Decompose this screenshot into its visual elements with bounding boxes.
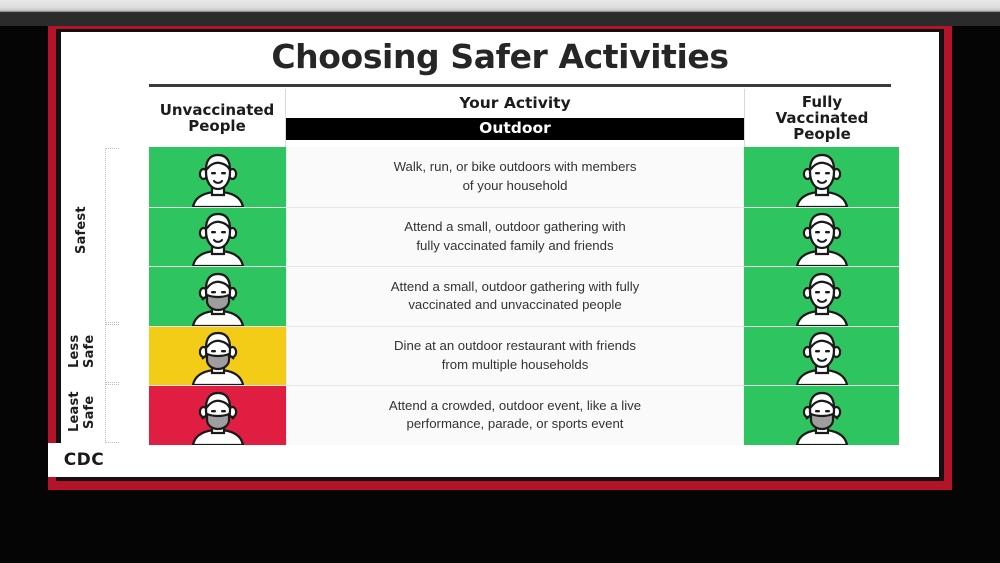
window-dark-strip <box>0 13 1000 26</box>
person-masked-icon <box>791 389 853 445</box>
vaccinated-risk-cell <box>744 147 899 207</box>
table-row: Attend a small, outdoor gathering with f… <box>149 266 899 326</box>
activity-line-2: from multiple households <box>442 357 589 372</box>
person-unmasked-icon <box>791 270 853 326</box>
vaccinated-risk-cell <box>744 386 899 445</box>
activity-description: Attend a small, outdoor gathering withfu… <box>286 208 744 267</box>
vaccinated-risk-cell <box>744 327 899 386</box>
activity-line-2: of your household <box>463 178 568 193</box>
activity-description: Dine at an outdoor restaurant with frien… <box>286 327 744 386</box>
header-unvaccinated-line2: People <box>188 117 246 135</box>
header-activity-label: Your Activity <box>459 95 570 118</box>
activity-line-2: vaccinated and unvaccinated people <box>408 297 621 312</box>
person-unmasked-icon <box>791 210 853 266</box>
person-masked-icon <box>187 329 249 385</box>
cdc-logo: CDC <box>48 443 120 477</box>
page-title: Choosing Safer Activities <box>61 37 939 76</box>
person-unmasked-icon <box>187 210 249 266</box>
title-divider <box>149 84 891 87</box>
table-row: Walk, run, or bike outdoors with members… <box>149 147 899 207</box>
risk-label-safest: Safest <box>75 150 95 310</box>
activity-description: Attend a small, outdoor gathering with f… <box>286 267 744 326</box>
unvaccinated-risk-cell <box>149 147 286 207</box>
header-outdoor-bar: Outdoor <box>286 118 744 140</box>
activity-description: Walk, run, or bike outdoors with members… <box>286 147 744 207</box>
person-unmasked-icon <box>791 329 853 385</box>
activity-line-1: Attend a crowded, outdoor event, like a … <box>389 398 641 413</box>
risk-label-less-safe-2: Safe <box>83 325 99 377</box>
activity-line-2: fully vaccinated family and friends <box>416 238 613 253</box>
table-row: Attend a small, outdoor gathering withfu… <box>149 207 899 267</box>
window-chrome-strip <box>0 0 1000 12</box>
person-masked-icon <box>187 270 249 326</box>
activity-line-1: Dine at an outdoor restaurant with frien… <box>394 338 636 353</box>
vaccinated-risk-cell <box>744 267 899 326</box>
risk-label-least-safe-2: Safe <box>83 384 99 440</box>
table-row: Attend a crowded, outdoor event, like a … <box>149 385 899 445</box>
header-vaccinated-line3: People <box>793 125 851 143</box>
unvaccinated-risk-cell <box>149 386 286 445</box>
table-row: Dine at an outdoor restaurant with frien… <box>149 326 899 386</box>
person-unmasked-icon <box>187 151 249 207</box>
unvaccinated-risk-cell <box>149 267 286 326</box>
header-unvaccinated-people: Unvaccinated People <box>149 89 286 147</box>
vaccinated-risk-cell <box>744 208 899 267</box>
person-unmasked-icon <box>791 151 853 207</box>
header-your-activity: Your Activity Outdoor <box>286 89 744 147</box>
table-body: Walk, run, or bike outdoors with members… <box>149 147 899 445</box>
unvaccinated-risk-cell <box>149 208 286 267</box>
bracket-least-safe <box>105 384 119 443</box>
activity-line-1: Attend a small, outdoor gathering with f… <box>391 279 640 294</box>
activity-line-1: Attend a small, outdoor gathering with <box>404 219 625 234</box>
screen: Choosing Safer Activities Safest Less Sa… <box>0 0 1000 563</box>
activity-description: Attend a crowded, outdoor event, like a … <box>286 386 744 445</box>
activity-line-2: performance, parade, or sports event <box>407 416 624 431</box>
unvaccinated-risk-cell <box>149 327 286 386</box>
activity-line-1: Walk, run, or bike outdoors with members <box>394 159 637 174</box>
cdc-poster: Choosing Safer Activities Safest Less Sa… <box>61 32 939 477</box>
header-fully-vaccinated-people: Fully Vaccinated People <box>744 89 899 147</box>
person-masked-icon <box>187 389 249 445</box>
bracket-safest <box>105 148 119 323</box>
activities-table: Unvaccinated People Your Activity Outdoo… <box>149 89 899 445</box>
table-header-row: Unvaccinated People Your Activity Outdoo… <box>149 89 899 147</box>
bracket-less-safe <box>105 324 119 383</box>
